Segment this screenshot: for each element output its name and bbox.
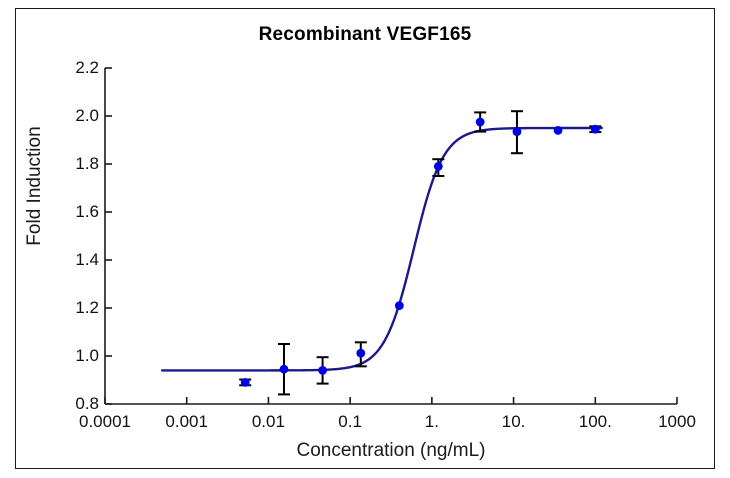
data-point bbox=[591, 125, 600, 134]
plot-area bbox=[0, 0, 730, 478]
data-point bbox=[241, 378, 250, 387]
data-point bbox=[318, 366, 327, 375]
axis-lines bbox=[105, 68, 677, 404]
error-bars bbox=[239, 111, 601, 394]
data-point bbox=[356, 349, 365, 358]
data-point-markers bbox=[241, 118, 600, 387]
data-point bbox=[395, 301, 404, 310]
x-axis-ticks bbox=[105, 397, 677, 404]
data-point bbox=[554, 126, 563, 135]
chart-figure: Recombinant VEGF165 Fold Induction Conce… bbox=[0, 0, 730, 478]
y-axis-ticks bbox=[105, 68, 112, 404]
fit-curve bbox=[162, 128, 602, 370]
data-point bbox=[280, 365, 289, 374]
data-point bbox=[434, 162, 443, 171]
data-point bbox=[513, 127, 522, 136]
data-point bbox=[476, 118, 485, 127]
